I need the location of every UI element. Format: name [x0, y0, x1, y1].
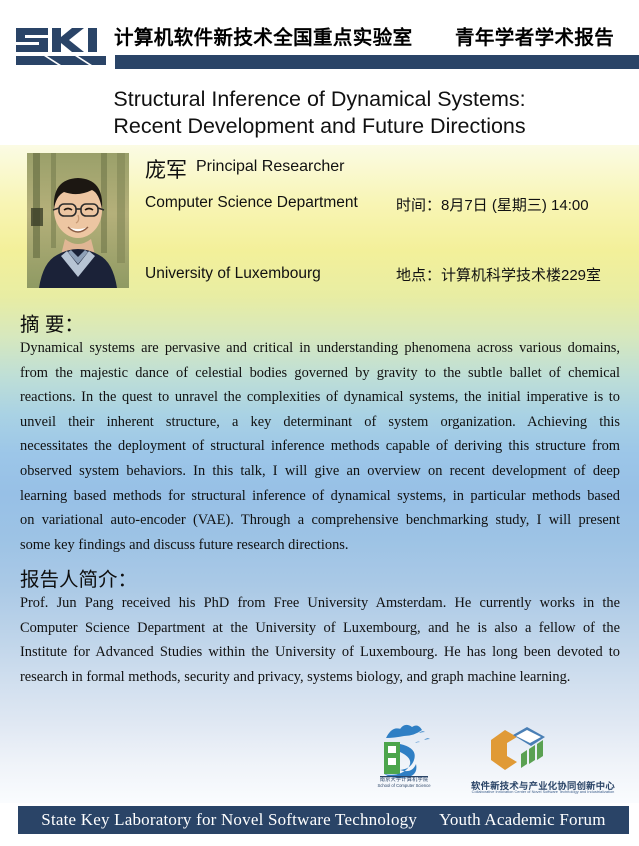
abstract-body: Dynamical systems are pervasive and crit… [20, 336, 620, 557]
footer-logos: 南京大学计算机学院 School of Computer Science 软件新… [0, 720, 639, 800]
text-line: research in formal methods, security and… [20, 665, 620, 690]
cic-caption-en: Collaborative Innovation Center of Novel… [458, 789, 628, 794]
footer-forum-name: Youth Academic Forum [439, 810, 606, 829]
lab-name-cn: 计算机软件新技术全国重点实验室 [114, 21, 413, 50]
speaker-role: Principal Researcher [196, 158, 345, 176]
speaker-university: University of Luxembourg [145, 265, 321, 283]
bio-body: Prof. Jun Pang received his PhD from Fre… [20, 591, 620, 689]
footer-bar-text: State Key Laboratory for Novel Software … [18, 806, 629, 834]
text-line: reactions. In the quest to unravel the c… [20, 385, 620, 410]
talk-location: 地点：计算机科学技术楼229室 [396, 264, 601, 285]
text-line: unveil their inherent structure, a key d… [20, 410, 620, 435]
footer-lab-name: State Key Laboratory for Novel Software … [41, 810, 417, 829]
nju-caption-cn: 南京大学计算机学院 [372, 776, 436, 783]
speaker-name-cn: 庞军 [145, 154, 187, 184]
talk-title: Structural Inference of Dynamical System… [0, 86, 639, 140]
talk-title-line-2: Recent Development and Future Directions [0, 113, 639, 140]
nju-caption-en: School of Computer Science [372, 783, 436, 788]
collaborative-innovation-center-logo-icon [487, 724, 549, 776]
speaker-department: Computer Science Department [145, 194, 358, 212]
talk-title-line-1: Structural Inference of Dynamical System… [0, 86, 639, 113]
poster-header: 计算机软件新技术全国重点实验室 青年学者学术报告 [0, 0, 639, 75]
header-navy-bar [115, 55, 639, 69]
poster-body: 庞军 Principal Researcher Computer Science… [0, 145, 639, 803]
poster-footer-bar: State Key Laboratory for Novel Software … [18, 806, 629, 834]
title-zone: Structural Inference of Dynamical System… [0, 75, 639, 145]
text-line: learning based methods for structural in… [20, 484, 620, 509]
abstract-heading: 摘 要： [20, 308, 84, 337]
skl-logo-icon [14, 18, 109, 66]
bio-heading: 报告人简介： [20, 563, 137, 592]
text-line: necessitates the deployment of structura… [20, 434, 620, 459]
text-line: from the majestic dance of celestial bod… [20, 361, 620, 386]
series-title-cn: 青年学者学术报告 [455, 21, 614, 50]
text-line: observed system behaviors. In this talk,… [20, 459, 620, 484]
seminar-poster: 计算机软件新技术全国重点实验室 青年学者学术报告 Structural Infe… [0, 0, 639, 846]
text-line: Dynamical systems are pervasive and crit… [20, 336, 620, 361]
talk-time: 时间：8月7日 (星期三) 14:00 [396, 194, 589, 215]
text-line: on variational auto-encoder (VAE). Throu… [20, 508, 620, 533]
text-line: Computer Science Department at the Unive… [20, 616, 620, 641]
speaker-photo [27, 153, 129, 288]
text-line: Institute for Advanced Studies within th… [20, 640, 620, 665]
text-line: some key findings and discuss future res… [20, 533, 620, 558]
text-line: Prof. Jun Pang received his PhD from Fre… [20, 591, 620, 616]
